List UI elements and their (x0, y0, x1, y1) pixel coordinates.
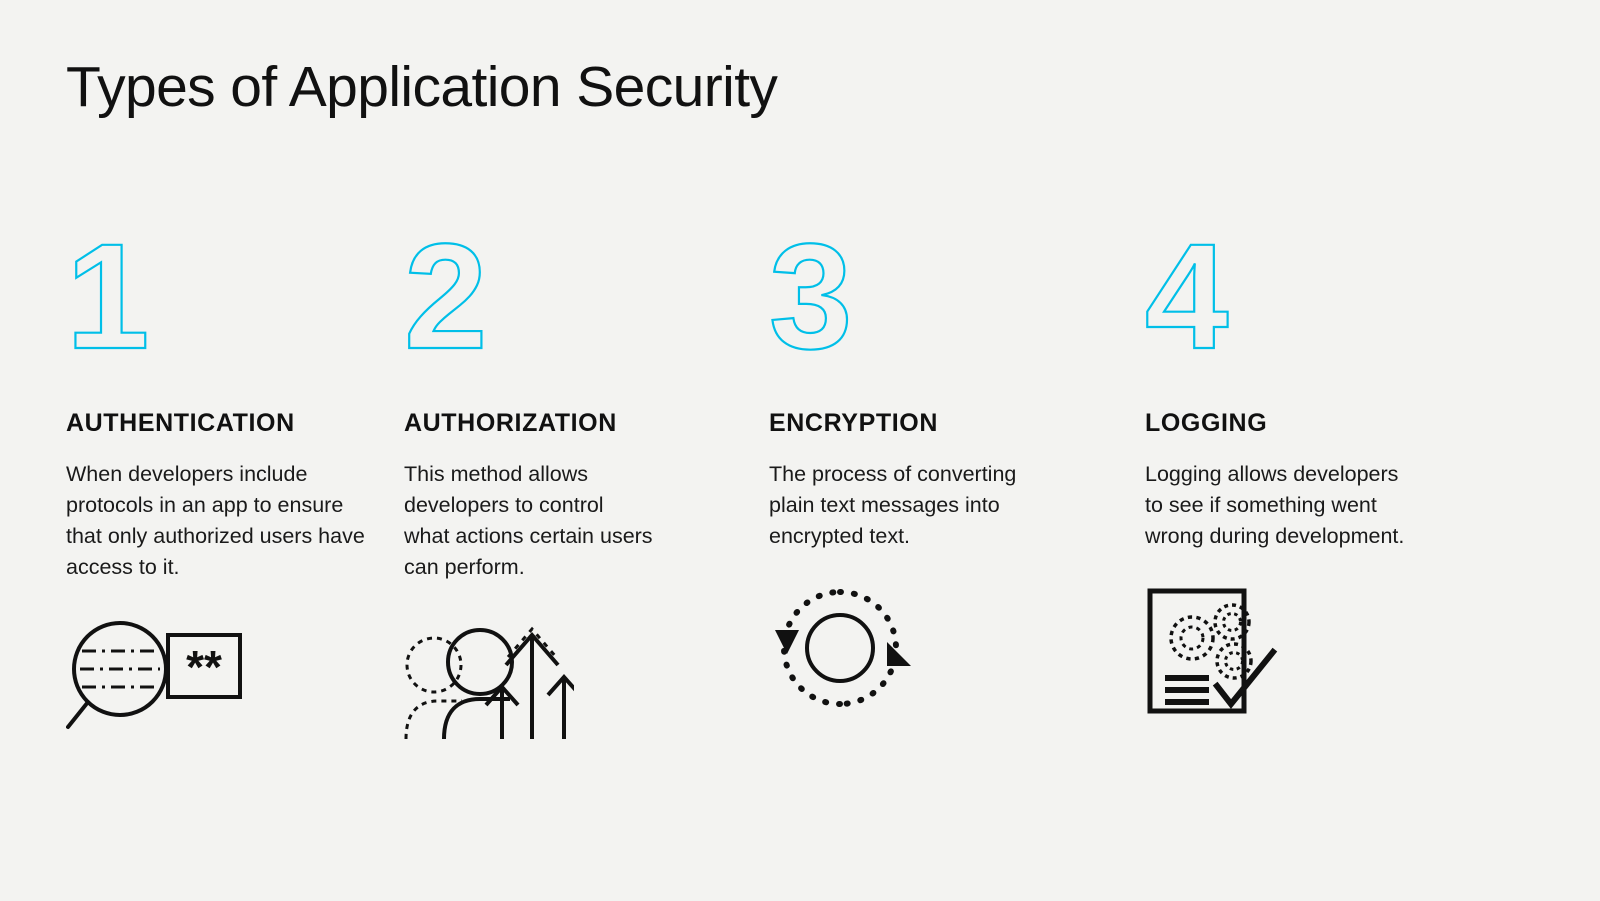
numeral-1-glyph: 1 (66, 212, 149, 380)
circular-conversion-icon (769, 586, 1143, 716)
arrowhead-left (775, 630, 799, 654)
dotted-arc-left (784, 592, 840, 704)
numeral-4: 4 (1145, 228, 1523, 378)
arrowhead-right (887, 642, 911, 666)
center-circle (807, 615, 873, 681)
numeral-2-glyph: 2 (404, 212, 487, 380)
body-encryption: The process of converting plain text mes… (769, 459, 1059, 552)
numeral-1: 1 (66, 228, 402, 378)
column-logging: 4 LOGGING Logging allows developers to s… (1143, 228, 1523, 716)
magnifier-handle (68, 702, 88, 727)
password-asterisks: ** (186, 641, 222, 693)
numeral-4-glyph: 4 (1145, 212, 1228, 380)
page-title: Types of Application Security (66, 56, 777, 119)
heading-authentication: AUTHENTICATION (66, 410, 402, 438)
dotted-person (406, 638, 462, 739)
document-gears-check-icon (1145, 586, 1523, 716)
gear-large (1171, 617, 1213, 659)
numeral-3-glyph: 3 (769, 212, 852, 380)
body-authentication: When developers include protocols in an … (66, 459, 366, 583)
numeral-2: 2 (404, 228, 767, 378)
numeral-3: 3 (769, 228, 1143, 378)
column-authorization: 2 AUTHORIZATION This method allows devel… (402, 228, 767, 747)
columns-container: 1 AUTHENTICATION When developers include… (0, 228, 1600, 747)
heading-authorization: AUTHORIZATION (404, 410, 767, 438)
heading-logging: LOGGING (1145, 410, 1523, 438)
body-logging: Logging allows developers to see if some… (1145, 459, 1417, 552)
heading-encryption: ENCRYPTION (769, 410, 1143, 438)
column-authentication: 1 AUTHENTICATION When developers include… (0, 228, 402, 747)
infographic-page: Types of Application Security 1 AUTHENTI… (0, 0, 1600, 901)
solid-person-head (448, 630, 512, 694)
magnifier-password-icon: ** (66, 617, 402, 747)
arrow-right-head (548, 677, 574, 695)
column-encryption: 3 ENCRYPTION The process of converting p… (767, 228, 1143, 716)
users-permission-arrows-icon (404, 617, 767, 747)
body-authorization: This method allows developers to control… (404, 459, 654, 583)
